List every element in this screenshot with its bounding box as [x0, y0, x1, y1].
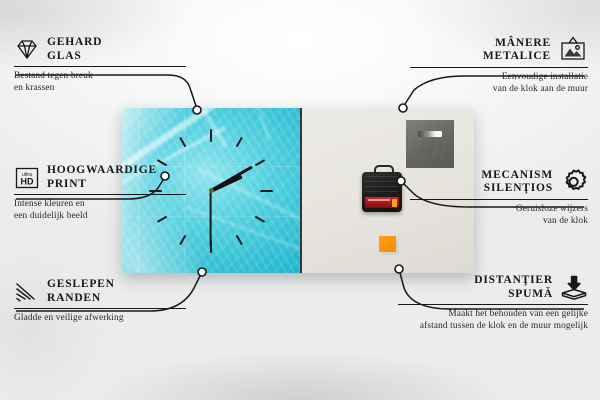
arrow-down-onto-pad-icon: [560, 275, 588, 301]
clock-mechanism: [362, 172, 402, 212]
feature-heading: GEHARD GLAS: [14, 36, 186, 63]
feature-hd-print: ultra HD HOOGWAARDIGE PRINT Intense kleu…: [14, 164, 186, 222]
feature-description: Eenvoudige installatie van de klok aan d…: [410, 72, 588, 95]
feature-heading: ultra HD HOOGWAARDIGE PRINT: [14, 164, 186, 191]
feature-polished-edges: GESLEPEN RANDEN Gladde en veilige afwerk…: [14, 278, 186, 325]
feature-title: HOOGWAARDIGE PRINT: [47, 164, 157, 191]
divider: [14, 308, 186, 309]
hanger-slot: [418, 131, 442, 137]
metal-hanger-plate: [406, 120, 454, 168]
feature-foam-spacer: DISTANŢIER SPUMĂ Maakt het behouden van …: [398, 274, 588, 332]
feature-tempered-glass: GEHARD GLAS Bestand tegen breuk en krass…: [14, 36, 186, 94]
feature-title: GESLEPEN RANDEN: [47, 278, 115, 305]
feature-description: Geruisloze wijzers van de klok: [410, 204, 588, 227]
feature-title: DISTANŢIER SPUMĂ: [474, 274, 553, 301]
divider: [398, 304, 588, 305]
divider: [14, 194, 186, 195]
mechanism-vent-grid: [366, 176, 398, 194]
mechanism-hanging-loop: [374, 165, 394, 176]
feature-title: MECANISM SILENŢIOS: [481, 169, 553, 196]
clock-second-hand: [210, 191, 212, 247]
divider: [410, 199, 588, 200]
clock-center-cap: [209, 188, 214, 193]
feature-description: Gladde en veilige afwerking: [14, 313, 186, 324]
feature-heading: MÂNERE METALICE: [410, 36, 588, 64]
svg-text:HD: HD: [21, 176, 34, 186]
battery-label: [368, 199, 390, 201]
feature-title: GEHARD GLAS: [47, 36, 102, 63]
feature-metal-handles: MÂNERE METALICE Eenvoudige installatie v…: [410, 36, 588, 95]
feature-silent-mechanism: MECANISM SILENŢIOS Geruisloze wijzers va…: [410, 168, 588, 227]
picture-frame-hanging-icon: [558, 36, 588, 64]
feature-heading: DISTANŢIER SPUMĂ: [398, 274, 588, 301]
feature-title: MÂNERE METALICE: [483, 37, 551, 64]
feather-streak: [198, 168, 302, 233]
gear-icon: [560, 168, 588, 196]
diamond-icon: [14, 39, 40, 61]
feature-heading: MECANISM SILENŢIOS: [410, 168, 588, 196]
infographic-canvas: GEHARD GLAS Bestand tegen breuk en krass…: [0, 0, 600, 400]
foam-spacer: [379, 236, 396, 252]
feature-description: Bestand tegen breuk en krassen: [14, 71, 186, 94]
bevelled-edges-icon: [14, 281, 40, 303]
feature-description: Maakt het behouden van een gelijke afsta…: [398, 309, 588, 332]
ultra-hd-icon: ultra HD: [14, 166, 40, 190]
feather-streak: [243, 108, 271, 142]
divider: [14, 66, 186, 67]
feature-description: Intense kleuren en een duidelijk beeld: [14, 199, 186, 222]
divider: [410, 67, 588, 68]
battery: [365, 197, 399, 208]
feature-heading: GESLEPEN RANDEN: [14, 278, 186, 305]
